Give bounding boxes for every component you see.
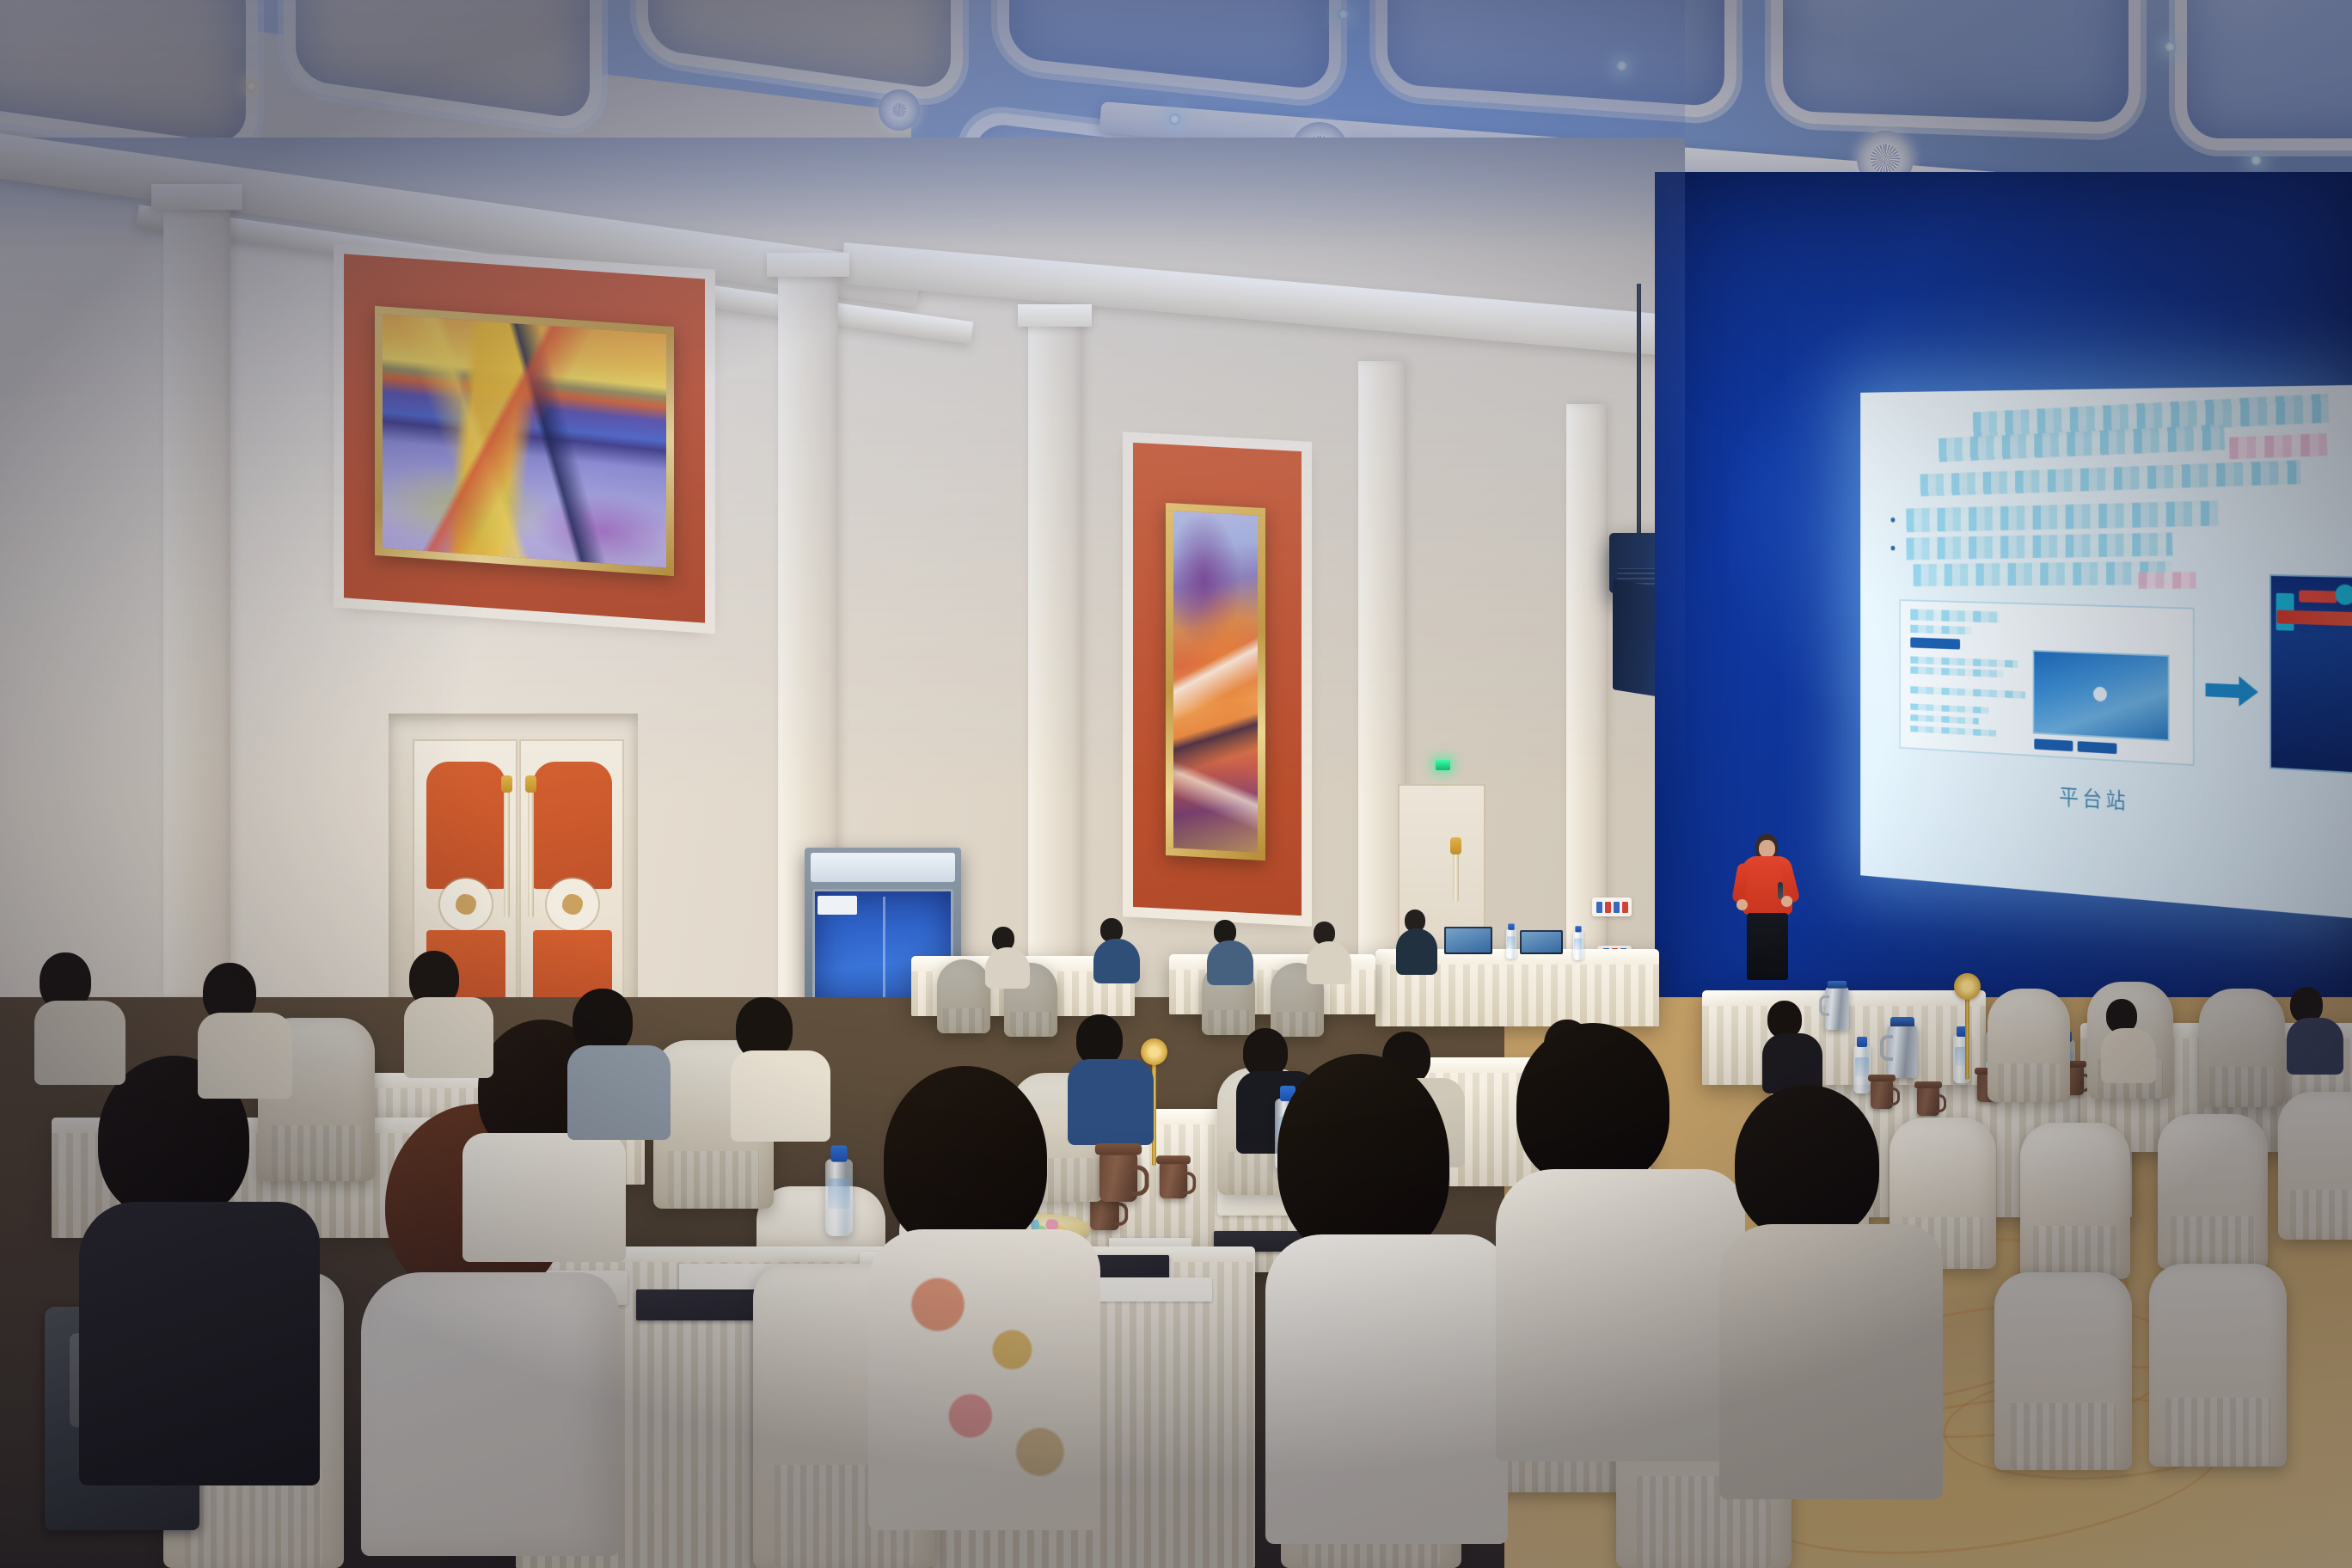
wall-pilaster (163, 189, 230, 997)
sign-bar (1596, 902, 1602, 913)
person-head (1076, 1014, 1123, 1066)
thermos-carafe[interactable] (1888, 1025, 1917, 1078)
person-body (79, 1202, 320, 1485)
banquet-chair (1994, 1272, 2132, 1470)
person-body (1396, 928, 1437, 975)
lidded-teacup[interactable] (1917, 1087, 1939, 1116)
phone-icon (2336, 585, 2352, 606)
banquet-chair (2020, 1123, 2130, 1279)
card-body-censored (1910, 666, 2003, 677)
card-body-censored (1910, 686, 2025, 699)
door-medallion (547, 879, 598, 930)
presenter-hand-left (1736, 899, 1748, 910)
person-body (1719, 1224, 1943, 1499)
card-video-thumbnail (2033, 650, 2170, 741)
person-body (868, 1229, 1100, 1530)
lidded-teacup[interactable] (1160, 1162, 1188, 1199)
conference-hall-photo: Chinese caption beneath the screenshot c… (0, 0, 2352, 1568)
person-body (1207, 940, 1253, 985)
water-bottle[interactable] (1573, 931, 1583, 960)
water-bottle[interactable] (1853, 1045, 1871, 1093)
person-body (361, 1272, 619, 1556)
table-number-stand (1965, 997, 1969, 1080)
banquet-chair (1988, 989, 2070, 1102)
ceiling-coffer (1375, 0, 1736, 120)
av-laptop[interactable] (1520, 930, 1563, 954)
bullet-marker (1891, 546, 1896, 551)
recessed-downlight (1338, 9, 1349, 20)
card-meta-censored (1910, 625, 1971, 635)
person-body (567, 1045, 671, 1140)
recessed-downlight (2165, 41, 2176, 52)
card-body-censored (1910, 726, 1996, 737)
person-body (198, 1013, 292, 1099)
refrigerator-label (818, 896, 857, 915)
person-hair (884, 1066, 1047, 1251)
bullet-line-1-censored (1906, 500, 2219, 532)
person-hair (1735, 1085, 1879, 1240)
door-panel (426, 762, 505, 889)
av-laptop[interactable] (1444, 927, 1492, 954)
painting-vertical-canvas (1173, 511, 1258, 852)
pilaster-capital (1018, 304, 1092, 327)
handheld-microphone (1778, 882, 1783, 899)
lidded-teacup[interactable] (1099, 1152, 1137, 1202)
card-title-censored (1910, 609, 1999, 622)
slide-section-censored (1913, 561, 2172, 586)
painting-vertical (1166, 503, 1265, 861)
sign-bar (1614, 902, 1620, 913)
card-body-censored (1910, 714, 1978, 725)
person-body (1265, 1234, 1508, 1544)
lidded-teacup[interactable] (1871, 1080, 1893, 1109)
ceiling-rosette (879, 89, 920, 131)
ceiling-coffer (1771, 0, 2141, 136)
painting-horizontal (375, 306, 674, 576)
door-panel (533, 762, 612, 889)
refrigerator-header (811, 853, 954, 882)
presenter (1736, 834, 1805, 997)
banquet-chair (937, 959, 990, 1033)
person-body (2287, 1018, 2343, 1075)
person-body (731, 1050, 830, 1142)
person-body (1068, 1059, 1154, 1145)
bullet-line-2-censored (1906, 533, 2172, 560)
phone-red-banner (2277, 610, 2352, 627)
side-door-handle[interactable] (1453, 851, 1459, 903)
card-body-censored (1910, 703, 1988, 714)
projection-screen: Chinese caption beneath the screenshot c… (1860, 385, 2352, 918)
sign-bar (1622, 902, 1628, 913)
card-body-censored (1910, 656, 2018, 667)
person-body (462, 1133, 626, 1262)
pilaster-capital (151, 184, 242, 210)
person-body (1307, 941, 1351, 984)
door-medallion (440, 879, 492, 930)
water-bottle[interactable] (825, 1159, 853, 1236)
screenshot-card-right (2269, 574, 2352, 775)
wall-pilaster (1028, 309, 1081, 1023)
card-tag-button (1910, 637, 1960, 649)
presenter-face (1759, 840, 1775, 858)
recessed-downlight (1169, 113, 1180, 125)
transform-arrow-shaft (2206, 683, 2241, 698)
presenter-hand-right (1781, 896, 1792, 907)
slide-section-accent-censored (2138, 572, 2196, 589)
presenter-skirt (1747, 913, 1788, 980)
water-bottle[interactable] (1506, 929, 1516, 959)
door-handle-left[interactable] (504, 789, 510, 918)
bullet-marker (1891, 518, 1896, 523)
speaker-mount-rod (1637, 284, 1641, 542)
sign-bar (1605, 902, 1611, 913)
wall-pilaster (1566, 404, 1606, 1040)
recessed-downlight (246, 81, 257, 92)
card-action-button-2[interactable] (2078, 741, 2117, 754)
recessed-downlight (1616, 60, 1627, 71)
painting-horizontal-canvas (383, 314, 666, 567)
person-body (404, 997, 493, 1078)
presentation-slide: Chinese caption beneath the screenshot c… (1860, 385, 2352, 918)
pilaster-capital (767, 253, 849, 277)
exit-sign (1436, 760, 1450, 770)
person-body (1496, 1169, 1745, 1461)
door-handle-right[interactable] (528, 789, 534, 918)
banquet-chair (2199, 989, 2285, 1107)
banquet-chair (2158, 1114, 2268, 1269)
person-hair (1516, 1023, 1669, 1186)
slide-subhead-censored (1920, 460, 2300, 496)
person-body (1093, 939, 1140, 983)
card-action-button-1[interactable] (2034, 738, 2073, 751)
person-body (2101, 1028, 2156, 1083)
phone-red-badge (2299, 591, 2337, 603)
wall-signage (1592, 897, 1632, 916)
slide-headline-accent-censored (2229, 433, 2327, 459)
thermos-carafe[interactable] (1825, 987, 1848, 1030)
slide-caption-cn: 平台站 (1860, 768, 2352, 831)
banquet-chair (2149, 1264, 2287, 1467)
recessed-downlight (2251, 155, 2262, 166)
person-body (34, 1001, 126, 1085)
ceiling-coffer (997, 0, 1341, 104)
screenshot-card-left (1899, 599, 2194, 766)
ceiling-coffer (2175, 0, 2352, 150)
transform-arrow-head (2239, 677, 2257, 707)
person-body (985, 947, 1030, 989)
banquet-chair (2278, 1092, 2352, 1240)
